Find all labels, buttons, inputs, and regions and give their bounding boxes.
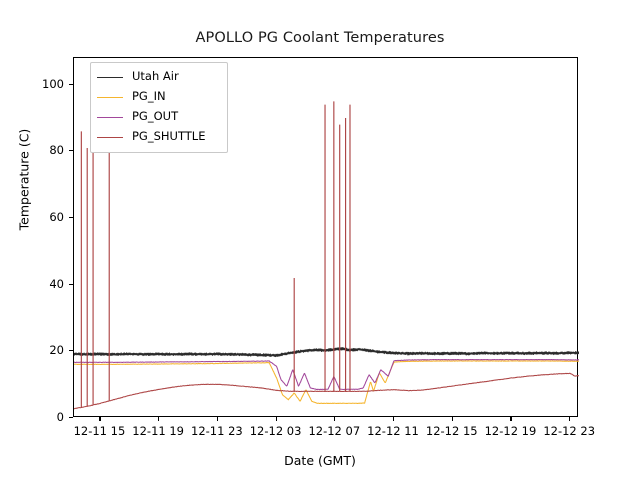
y-tick-mark [69, 350, 73, 351]
legend-item-pg-out[interactable]: PG_OUT [97, 107, 221, 127]
x-tick-label: 12-12 07 [308, 424, 360, 438]
x-axis-label: Date (GMT) [0, 453, 640, 468]
y-tick-label: 100 [0, 77, 64, 91]
y-tick-mark [69, 284, 73, 285]
x-tick-label: 12-12 11 [367, 424, 419, 438]
series-line-pg-in [74, 361, 579, 404]
y-tick-mark [69, 217, 73, 218]
y-tick-label: 80 [0, 143, 64, 157]
x-tick-label: 12-12 23 [543, 424, 595, 438]
legend-item-utah-air[interactable]: Utah Air [97, 67, 221, 87]
legend-item-label: Utah Air [132, 71, 179, 83]
x-tick-mark [510, 417, 511, 421]
legend-item-pg-shuttle[interactable]: PG_SHUTTLE [97, 127, 221, 147]
y-tick-mark [69, 84, 73, 85]
y-tick-label: 60 [0, 210, 64, 224]
x-tick-label: 12-11 23 [191, 424, 243, 438]
x-tick-mark [158, 417, 159, 421]
legend-item-label: PG_IN [132, 91, 166, 103]
x-tick-mark [334, 417, 335, 421]
y-axis-label: Temperature (C) [17, 80, 32, 280]
x-tick-mark [452, 417, 453, 421]
x-tick-label: 12-12 15 [426, 424, 478, 438]
chart-figure: APOLLO PG Coolant Temperatures Temperatu… [0, 0, 640, 480]
x-tick-label: 12-11 15 [74, 424, 126, 438]
x-tick-mark [276, 417, 277, 421]
chart-legend: Utah AirPG_INPG_OUTPG_SHUTTLE [90, 62, 228, 153]
y-tick-mark [69, 150, 73, 151]
y-tick-label: 40 [0, 277, 64, 291]
page-title: APOLLO PG Coolant Temperatures [0, 30, 640, 46]
y-tick-label: 20 [0, 343, 64, 357]
x-tick-mark [393, 417, 394, 421]
legend-swatch-icon [97, 137, 123, 138]
legend-item-label: PG_SHUTTLE [132, 131, 205, 143]
x-tick-label: 12-11 19 [132, 424, 184, 438]
x-tick-mark [217, 417, 218, 421]
x-tick-mark [99, 417, 100, 421]
legend-swatch-icon [97, 77, 123, 78]
x-tick-label: 12-12 19 [485, 424, 537, 438]
legend-swatch-icon [97, 97, 123, 98]
x-tick-label: 12-12 03 [250, 424, 302, 438]
legend-item-pg-in[interactable]: PG_IN [97, 87, 221, 107]
legend-swatch-icon [97, 117, 123, 118]
legend-item-label: PG_OUT [132, 111, 178, 123]
x-tick-mark [569, 417, 570, 421]
series-line-utah air [74, 348, 579, 357]
y-tick-mark [69, 417, 73, 418]
y-tick-label: 0 [0, 410, 64, 424]
